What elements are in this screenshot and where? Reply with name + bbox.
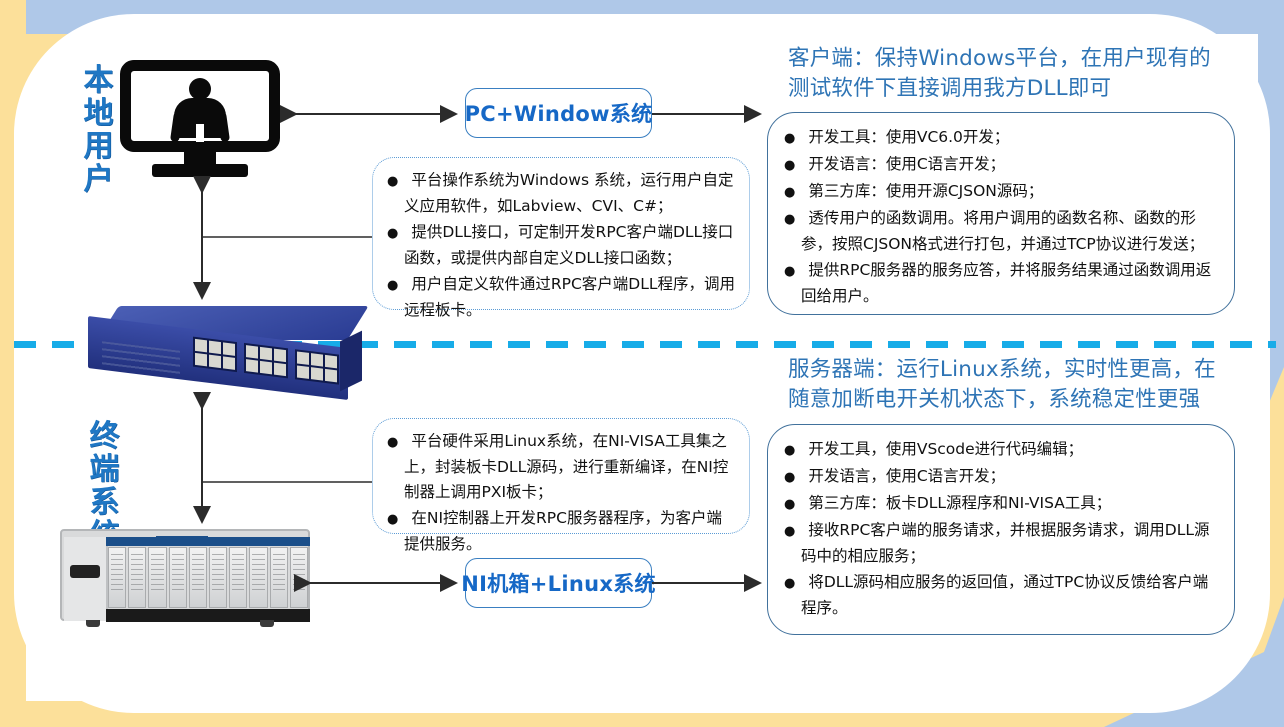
client-section-heading: 客户端：保持Windows平台，在用户现有的测试软件下直接调用我方DLL即可 xyxy=(788,44,1228,104)
ni-chassis-linux-system-box[interactable]: NI机箱+Linux系统 xyxy=(465,558,652,608)
detail-bullet: ●提供RPC服务器的服务应答，并将服务结果通过函数调用返回给用户。 xyxy=(784,258,1218,309)
chassis-foot-left xyxy=(86,620,100,627)
detail-bullet: ●开发语言：使用C语言开发； xyxy=(784,152,1218,178)
chassis-body xyxy=(60,529,310,621)
note-bullet: ●提供DLL接口，可定制开发RPC客户端DLL接口函数，或提供内部自定义DLL接… xyxy=(387,220,735,271)
detail-bullet: ●透传用户的函数调用。将用户调用的函数名称、函数的形参，按照CJSON格式进行打… xyxy=(784,206,1218,257)
note-bullet: ●用户自定义软件通过RPC客户端DLL程序，调用远程板卡。 xyxy=(387,272,735,323)
ni-logo xyxy=(156,536,208,545)
server-section-heading: 服务器端：运行Linux系统，实时性更高，在随意加断电开关机状态下，系统稳定性更… xyxy=(788,355,1228,415)
detail-bullet: ●将DLL源码相应服务的返回值，通过TPC协议反馈给客户端程序。 xyxy=(784,570,1218,621)
note-bullet: ●在NI控制器上开发RPC服务器程序，为客户端提供服务。 xyxy=(387,506,735,557)
server-details-box: ●开发工具，使用VScode进行代码编辑； ●开发语言，使用C语言开发； ●第三… xyxy=(767,424,1235,635)
person-head xyxy=(189,78,211,100)
chassis-left-panel xyxy=(64,537,108,621)
detail-bullet: ●第三方库：使用开源CJSON源码； xyxy=(784,179,1218,205)
switch-port-group xyxy=(244,343,288,378)
pxi-chassis-image xyxy=(60,525,310,625)
client-details-box: ●开发工具：使用VC6.0开发； ●开发语言：使用C语言开发； ●第三方库：使用… xyxy=(767,112,1235,315)
note-bullet: ●平台硬件采用Linux系统，在NI-VISA工具集之上，封装板卡DLL源码，进… xyxy=(387,429,735,505)
person-torso-gap xyxy=(196,124,204,142)
network-switch-image xyxy=(78,306,378,396)
detail-bullet: ●开发工具：使用VC6.0开发； xyxy=(784,125,1218,151)
server-platform-note: ●平台硬件采用Linux系统，在NI-VISA工具集之上，封装板卡DLL源码，进… xyxy=(372,418,750,534)
pc-window-system-box[interactable]: PC+Window系统 xyxy=(465,88,652,138)
chassis-card-slots xyxy=(108,547,308,608)
chassis-bottom-rail xyxy=(106,609,310,622)
chassis-foot-right xyxy=(260,620,274,627)
switch-port-group xyxy=(193,337,237,372)
local-user-label: 本地用户 xyxy=(82,64,116,196)
detail-bullet: ●第三方库：板卡DLL源程序和NI-VISA工具； xyxy=(784,491,1218,517)
note-bullet: ●平台操作系统为Windows 系统，运行用户自定义应用软件，如Labview、… xyxy=(387,168,735,219)
client-platform-note: ●平台操作系统为Windows 系统，运行用户自定义应用软件，如Labview、… xyxy=(372,157,750,310)
detail-bullet: ●开发语言，使用C语言开发； xyxy=(784,464,1218,490)
detail-bullet: ●接收RPC客户端的服务请求，并根据服务请求，调用DLL源码中的相应服务； xyxy=(784,518,1218,569)
monitor-base xyxy=(152,164,248,177)
chassis-handle xyxy=(70,565,100,578)
chassis-top-rail xyxy=(106,537,310,546)
detail-bullet: ●开发工具，使用VScode进行代码编辑； xyxy=(784,437,1218,463)
monitor-user-icon xyxy=(120,60,280,180)
switch-port-group xyxy=(295,349,339,384)
diagram-canvas: 本地用户 终端系统 xyxy=(0,0,1284,727)
